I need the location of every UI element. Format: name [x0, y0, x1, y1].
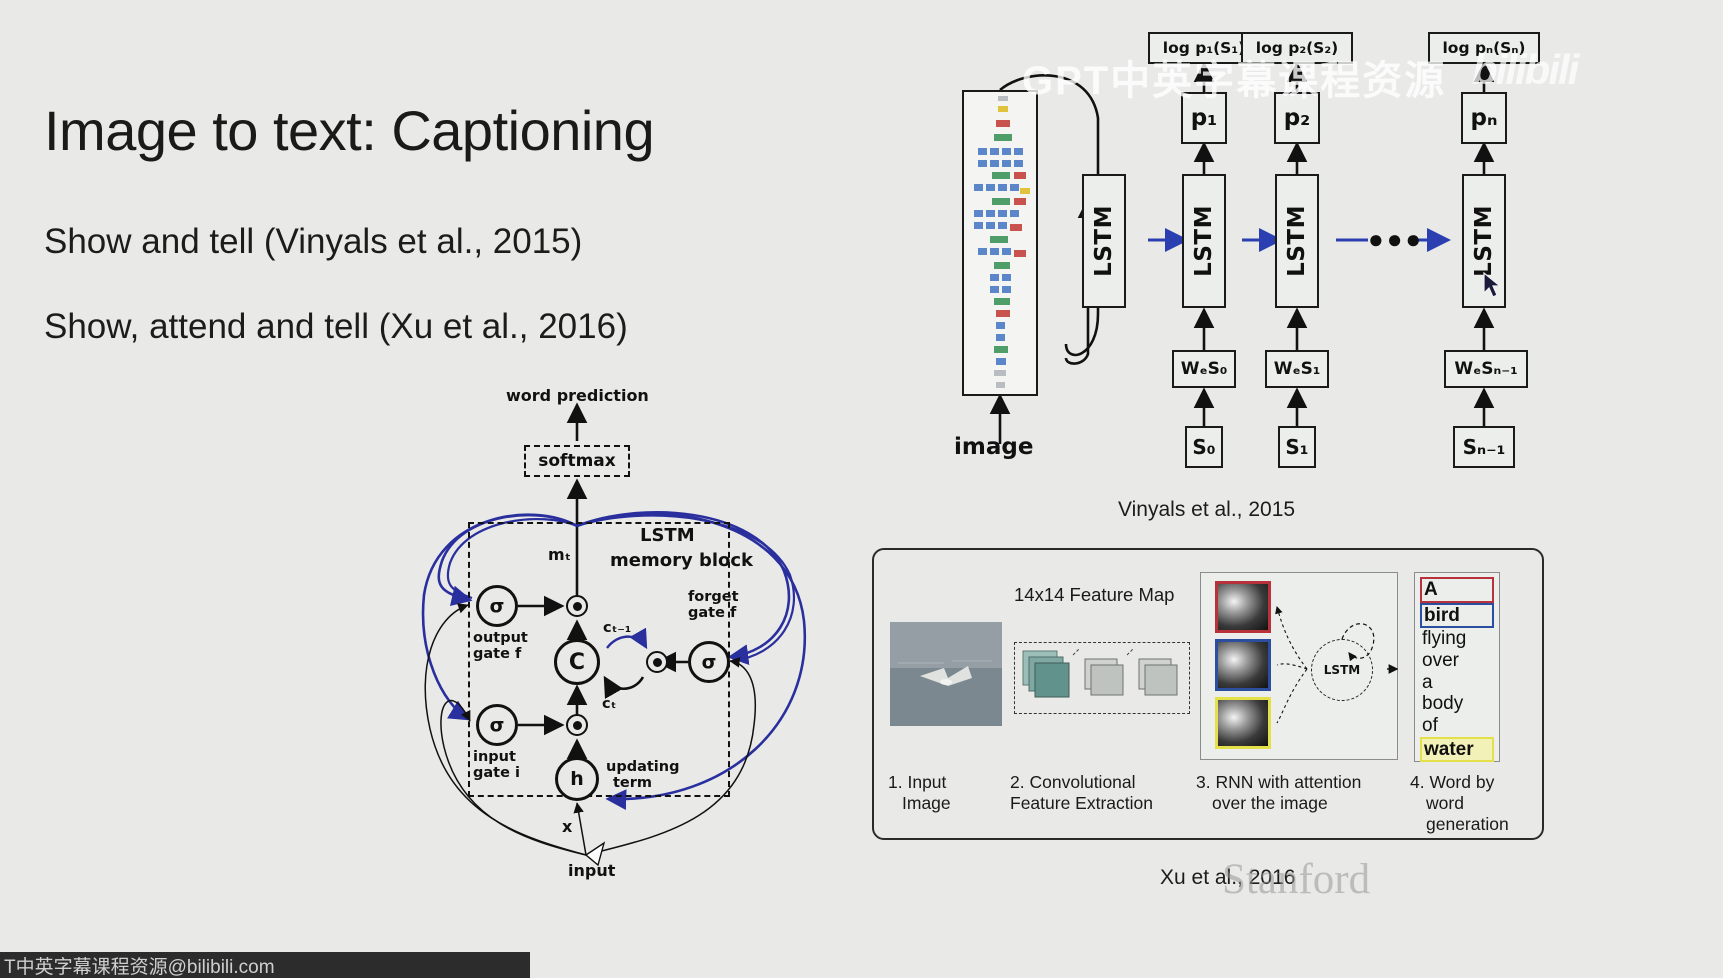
cnn-image-box	[962, 90, 1038, 396]
output-gate-label-line1: output	[473, 631, 528, 646]
we-box-1: WₑS₁	[1265, 350, 1329, 388]
input-image-thumbnail	[890, 622, 1002, 726]
lstm-box-1-label: LSTM	[1191, 205, 1217, 277]
conv-layer-boxes	[1015, 643, 1191, 715]
output-multiply-node	[566, 595, 588, 617]
word-item-1: bird	[1420, 603, 1494, 629]
we-box-n: WₑSₙ₋₁	[1444, 350, 1528, 388]
input-gate-sigma-node: σ	[476, 704, 518, 746]
lstm-box-0-label: LSTM	[1091, 205, 1117, 277]
s-box-1: S₁	[1278, 426, 1316, 468]
vinyals-captioning-diagram: image log p₁(S₁) log p₂(S₂) log pₙ(Sₙ) p…	[940, 14, 1560, 534]
c-t-label: cₜ	[602, 697, 616, 712]
image-label: image	[954, 434, 1033, 460]
input-label: input	[568, 863, 615, 880]
cnn-unit-tree	[964, 92, 1038, 396]
step-4-caption: 4. Word by word generation	[1410, 772, 1540, 835]
word-item-5: body	[1420, 693, 1494, 715]
bird-over-water-illustration	[890, 622, 1002, 726]
log-prob-box-n: log pₙ(Sₙ)	[1428, 32, 1540, 64]
attention-rnn-panel: LSTM	[1200, 572, 1398, 760]
word-item-4: a	[1420, 672, 1494, 694]
step-3-line1: RNN with attention	[1215, 772, 1361, 792]
word-item-2: flying	[1420, 628, 1494, 650]
bottom-watermark-bar: T中英字幕课程资源@bilibili.com	[0, 952, 530, 978]
xu-attention-figure: 14x14 Feature Map	[872, 548, 1544, 840]
p-box-2: p₂	[1274, 92, 1320, 144]
bullet-show-attend-and-tell: Show, attend and tell (Xu et al., 2016)	[44, 307, 628, 347]
feature-map-label: 14x14 Feature Map	[1014, 584, 1174, 606]
softmax-box: softmax	[524, 445, 630, 477]
p-box-1: p₁	[1181, 92, 1227, 144]
hidden-update-node: h	[555, 757, 599, 801]
step-1-line2: Image	[902, 793, 951, 813]
s-box-0: S₀	[1185, 426, 1223, 468]
cell-state-node: C	[554, 639, 600, 685]
output-gate-sigma-node: σ	[476, 585, 518, 627]
word-item-0: A	[1420, 577, 1494, 603]
step-2-line2: Feature Extraction	[1010, 793, 1153, 813]
memory-block-title-line1: LSTM	[640, 527, 695, 546]
forget-multiply-node	[646, 651, 668, 673]
step-2-number: 2.	[1010, 772, 1025, 792]
output-gate-label-line2: gate f	[473, 647, 521, 662]
updating-term-label-line1: updating	[606, 760, 679, 775]
generated-word-list: A bird flying over a body of water	[1414, 572, 1500, 762]
step-3-line2: over the image	[1212, 793, 1328, 813]
s-box-n: Sₙ₋₁	[1453, 426, 1515, 468]
step-1-line1: Input	[907, 772, 946, 792]
lstm-box-2: LSTM	[1275, 174, 1319, 308]
forget-gate-label-line1: forget	[688, 590, 739, 605]
step-4-number: 4.	[1410, 772, 1425, 792]
log-prob-box-2: log p₂(S₂)	[1241, 32, 1353, 64]
input-x-symbol: x	[562, 819, 572, 836]
word-item-3: over	[1420, 650, 1494, 672]
p-box-n: pₙ	[1461, 92, 1507, 144]
step-3-caption: 3. RNN with attention over the image	[1196, 772, 1404, 814]
step-1-caption: 1. Input Image	[888, 772, 1006, 814]
vinyals-citation-caption: Vinyals et al., 2015	[1118, 498, 1295, 522]
step-2-caption: 2. Convolutional Feature Extraction	[1010, 772, 1192, 814]
bullet-show-and-tell: Show and tell (Vinyals et al., 2015)	[44, 222, 582, 262]
memory-block-title-line2: memory block	[610, 552, 753, 571]
input-multiply-node	[566, 714, 588, 736]
slide-canvas: Image to text: Captioning Show and tell …	[0, 0, 1723, 978]
forget-gate-sigma-node: σ	[688, 641, 730, 683]
updating-term-label-line2: term	[613, 776, 652, 791]
word-item-6: of	[1420, 715, 1494, 737]
conv-feature-stack	[1014, 642, 1190, 714]
xu-citation-caption: Xu et al., 2016	[1160, 866, 1295, 890]
step-4-line2: word	[1426, 793, 1464, 813]
step-1-number: 1.	[888, 772, 903, 792]
word-item-7: water	[1420, 737, 1494, 763]
lstm-chain-ellipsis: ●●●	[1368, 224, 1424, 255]
page-title: Image to text: Captioning	[44, 98, 654, 163]
c-t-prev-label: cₜ₋₁	[603, 621, 631, 636]
input-gate-label-line2: gate i	[473, 766, 520, 781]
step-3-number: 3.	[1196, 772, 1211, 792]
forget-gate-label-line2: gate f	[688, 606, 736, 621]
lstm-box-n: LSTM	[1462, 174, 1506, 308]
attention-links	[1201, 573, 1399, 761]
step-4-line3: generation	[1426, 814, 1509, 834]
word-prediction-label: word prediction	[506, 388, 649, 405]
step-4-line1: Word by	[1429, 772, 1494, 792]
lstm-box-n-label: LSTM	[1471, 205, 1497, 277]
lstm-box-0: LSTM	[1082, 174, 1126, 308]
input-gate-label-line1: input	[473, 750, 516, 765]
lstm-memory-block-diagram: word prediction softmax LSTM memory bloc…	[400, 385, 870, 885]
m-t-label: mₜ	[548, 547, 571, 564]
lstm-box-2-label: LSTM	[1284, 205, 1310, 277]
we-box-0: WₑS₀	[1172, 350, 1236, 388]
step-2-line1: Convolutional	[1029, 772, 1135, 792]
lstm-box-1: LSTM	[1182, 174, 1226, 308]
